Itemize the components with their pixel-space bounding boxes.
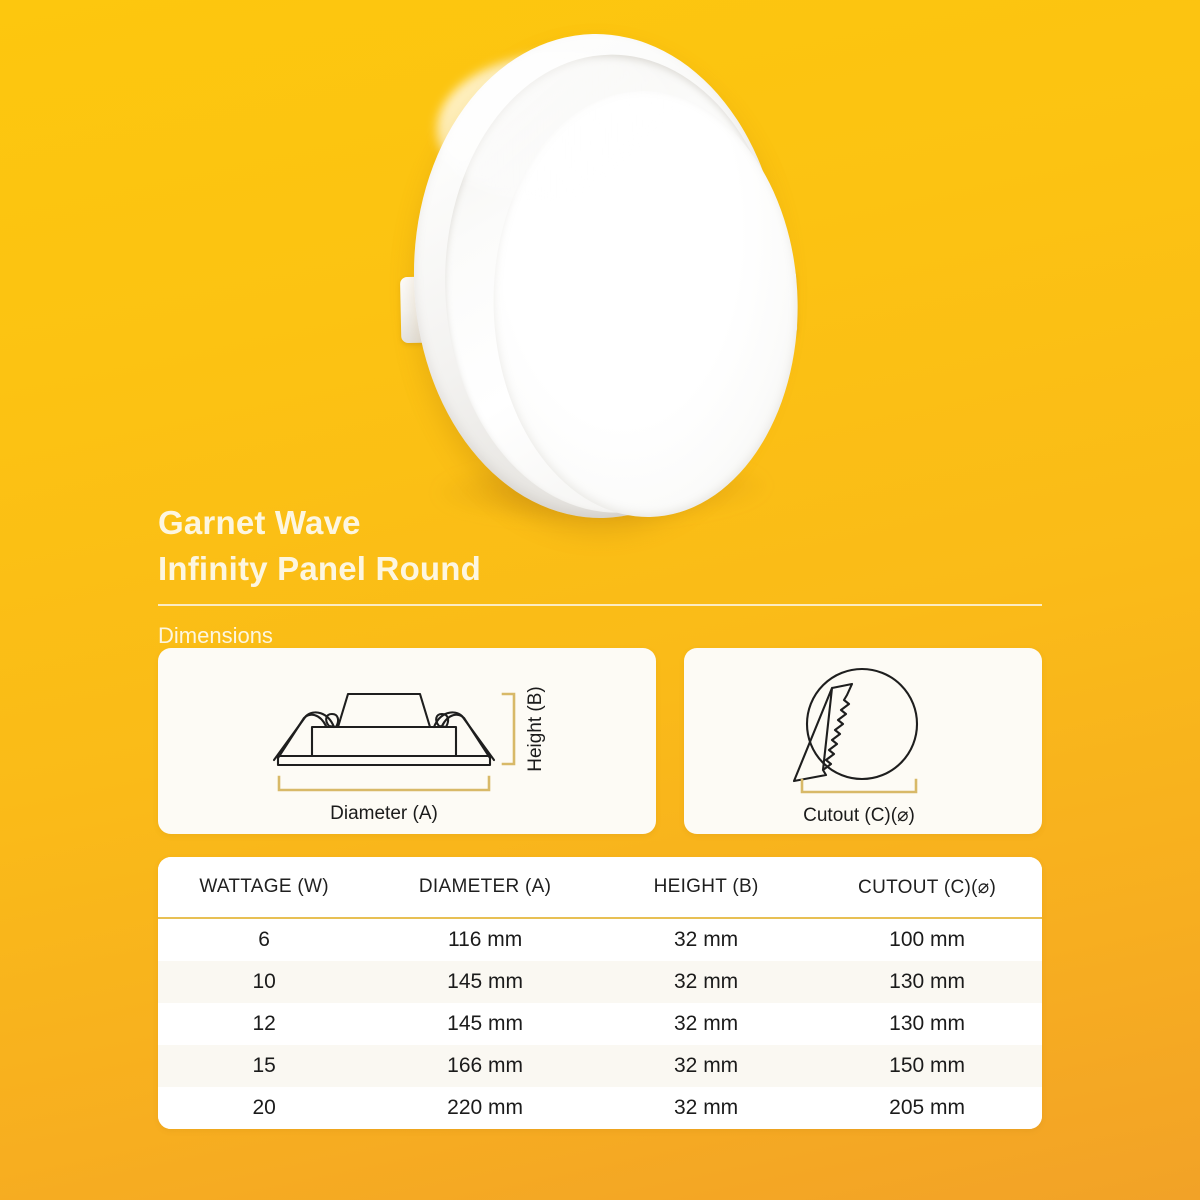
column-header-diameter: DIAMETER (A) — [370, 857, 600, 918]
saw-and-hole-icon: Cutout (C)(⌀) — [684, 648, 1042, 834]
column-header-height: HEIGHT (B) — [600, 857, 812, 918]
table-row: 20 220 mm 32 mm 205 mm — [158, 1087, 1042, 1129]
diagram-row: Diameter (A) Height (B) — [158, 648, 1042, 834]
product-image-area — [0, 0, 1200, 560]
table-header-row: WATTAGE (W) DIAMETER (A) HEIGHT (B) CUTO… — [158, 857, 1042, 918]
panel-outer-rim — [409, 30, 787, 522]
title-block: Garnet Wave Infinity Panel Round Dimensi… — [158, 500, 1042, 650]
product-title-line-2: Infinity Panel Round — [158, 546, 1042, 592]
table-row: 12 145 mm 32 mm 130 mm — [158, 1003, 1042, 1045]
cell-diameter: 166 mm — [370, 1045, 600, 1087]
cell-diameter: 145 mm — [370, 961, 600, 1003]
cell-wattage: 6 — [158, 918, 370, 961]
cell-height: 32 mm — [600, 1003, 812, 1045]
saw-blade-outline — [794, 684, 852, 781]
column-header-cutout: CUTOUT (C)(⌀) — [812, 857, 1042, 918]
panel-cross-section-icon: Diameter (A) Height (B) — [158, 648, 656, 834]
cell-wattage: 15 — [158, 1045, 370, 1087]
cell-cutout: 130 mm — [812, 961, 1042, 1003]
cell-cutout: 150 mm — [812, 1045, 1042, 1087]
cell-diameter: 116 mm — [370, 918, 600, 961]
section-label-dimensions: Dimensions — [158, 622, 1042, 650]
panel-bevel-ring — [440, 51, 788, 516]
diagram-label-cutout: Cutout (C)(⌀) — [803, 805, 915, 826]
cell-wattage: 12 — [158, 1003, 370, 1045]
specification-table: WATTAGE (W) DIAMETER (A) HEIGHT (B) CUTO… — [158, 857, 1042, 1129]
cell-height: 32 mm — [600, 1087, 812, 1129]
diagram-label-diameter: Diameter (A) — [330, 803, 438, 824]
diagram-card-profile: Diameter (A) Height (B) — [158, 648, 656, 834]
table-row: 10 145 mm 32 mm 130 mm — [158, 961, 1042, 1003]
table-row: 15 166 mm 32 mm 150 mm — [158, 1045, 1042, 1087]
table-row: 6 116 mm 32 mm 100 mm — [158, 918, 1042, 961]
cell-diameter: 220 mm — [370, 1087, 600, 1129]
product-spec-page: Garnet Wave Infinity Panel Round Dimensi… — [0, 0, 1200, 1200]
led-panel-round-image — [393, 22, 803, 530]
title-divider — [158, 604, 1042, 606]
column-header-wattage: WATTAGE (W) — [158, 857, 370, 918]
table-body: 6 116 mm 32 mm 100 mm 10 145 mm 32 mm 13… — [158, 918, 1042, 1129]
diagram-card-cutout: Cutout (C)(⌀) — [684, 648, 1042, 834]
cell-wattage: 10 — [158, 961, 370, 1003]
diagram-label-height: Height (B) — [525, 686, 546, 772]
cell-height: 32 mm — [600, 918, 812, 961]
panel-diffuser-face — [489, 88, 802, 520]
cell-diameter: 145 mm — [370, 1003, 600, 1045]
cell-cutout: 130 mm — [812, 1003, 1042, 1045]
cell-wattage: 20 — [158, 1087, 370, 1129]
cell-height: 32 mm — [600, 961, 812, 1003]
cell-cutout: 100 mm — [812, 918, 1042, 961]
cell-height: 32 mm — [600, 1045, 812, 1087]
cell-cutout: 205 mm — [812, 1087, 1042, 1129]
product-title-line-1: Garnet Wave — [158, 500, 1042, 546]
